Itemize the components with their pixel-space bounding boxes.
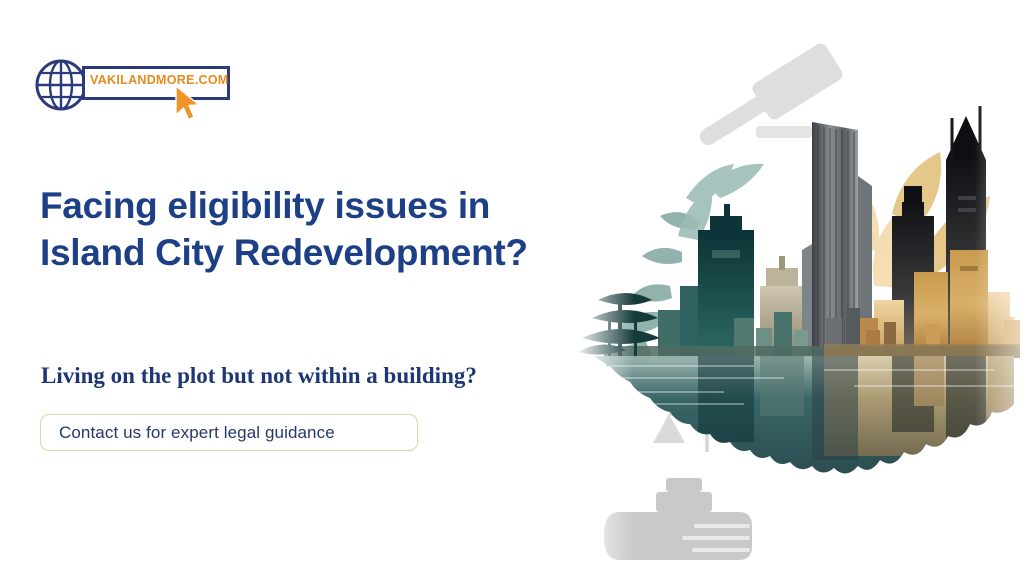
globe-icon (34, 58, 88, 112)
city-skyline-illustration (574, 0, 1024, 576)
subheadline: Living on the plot but not within a buil… (41, 363, 621, 389)
water-reflection (594, 356, 1020, 476)
contact-cta-button[interactable]: Contact us for expert legal guidance (40, 414, 418, 451)
promo-banner: VAKILANDMORE.COM Facing eligibility issu… (0, 0, 1024, 576)
mouse-cursor-icon (172, 84, 206, 124)
headline: Facing eligibility issues in Island City… (40, 182, 600, 276)
skyline (604, 106, 1020, 358)
contact-cta-label: Contact us for expert legal guidance (41, 423, 335, 443)
brand-logo[interactable]: VAKILANDMORE.COM (34, 52, 234, 120)
